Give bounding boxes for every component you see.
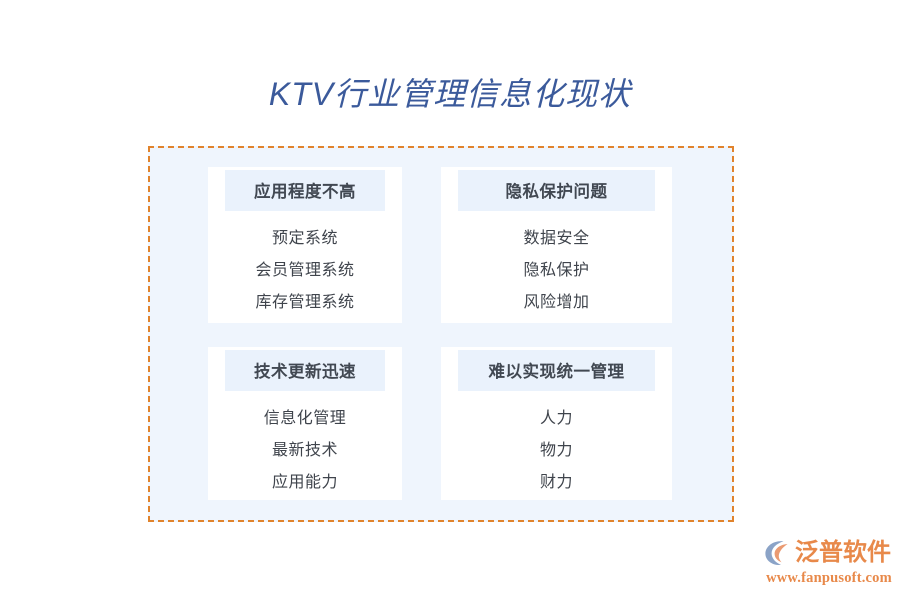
brand-logo: 泛普软件 www.fanpusoft.com <box>763 537 895 587</box>
list-item: 应用能力 <box>272 467 338 499</box>
card-technology-update[interactable]: 技术更新迅速 信息化管理 最新技术 应用能力 <box>208 347 402 500</box>
card-header: 隐私保护问题 <box>458 170 655 211</box>
logo-wordmark: 泛普软件 <box>795 538 891 568</box>
card-header: 应用程度不高 <box>225 170 385 211</box>
card-grid: 应用程度不高 预定系统 会员管理系统 库存管理系统 隐私保护问题 数据安全 隐私… <box>150 148 736 524</box>
card-unified-management[interactable]: 难以实现统一管理 人力 物力 财力 <box>441 347 672 500</box>
list-item: 最新技术 <box>272 435 338 467</box>
list-item: 财力 <box>540 467 573 499</box>
list-item: 数据安全 <box>523 223 589 255</box>
card-application-level[interactable]: 应用程度不高 预定系统 会员管理系统 库存管理系统 <box>208 167 402 323</box>
card-item-list: 预定系统 会员管理系统 库存管理系统 <box>208 211 402 319</box>
fanpu-logo-icon <box>763 538 793 568</box>
list-item: 人力 <box>540 403 573 435</box>
dashed-content-container: 应用程度不高 预定系统 会员管理系统 库存管理系统 隐私保护问题 数据安全 隐私… <box>148 146 734 522</box>
card-item-list: 人力 物力 财力 <box>441 391 672 499</box>
list-item: 物力 <box>540 435 573 467</box>
list-item: 库存管理系统 <box>255 287 354 319</box>
card-item-list: 数据安全 隐私保护 风险增加 <box>441 211 672 319</box>
list-item: 信息化管理 <box>264 403 347 435</box>
card-header: 技术更新迅速 <box>225 350 385 391</box>
card-header: 难以实现统一管理 <box>458 350 655 391</box>
card-privacy-protection[interactable]: 隐私保护问题 数据安全 隐私保护 风险增加 <box>441 167 672 323</box>
logo-url: www.fanpusoft.com <box>763 570 895 587</box>
list-item: 隐私保护 <box>523 255 589 287</box>
logo-row: 泛普软件 <box>763 537 895 569</box>
page-title: KTV行业管理信息化现状 <box>0 74 900 114</box>
list-item: 风险增加 <box>523 287 589 319</box>
card-item-list: 信息化管理 最新技术 应用能力 <box>208 391 402 499</box>
list-item: 会员管理系统 <box>255 255 354 287</box>
list-item: 预定系统 <box>272 223 338 255</box>
